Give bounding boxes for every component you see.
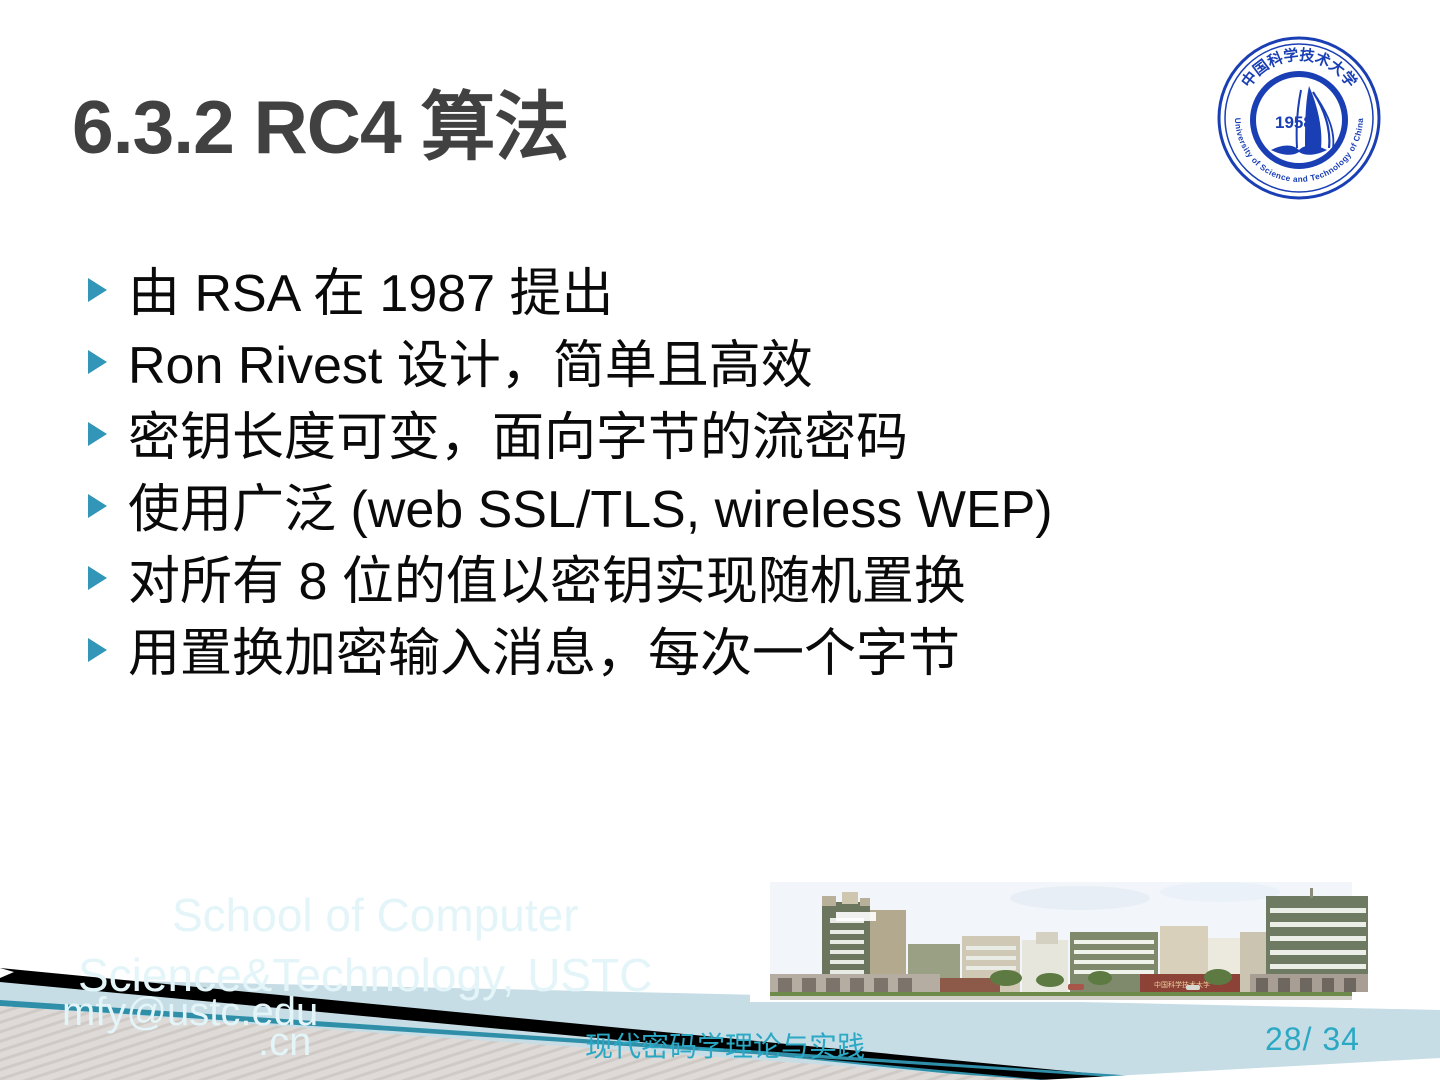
list-item-label: 对所有 8 位的值以密钥实现随机置换: [128, 556, 966, 608]
bullet-triangle-icon: [88, 494, 128, 518]
list-item-label: Ron Rivest 设计，简单且高效: [128, 340, 813, 392]
svg-text:中国科学技术大学: 中国科学技术大学: [1154, 980, 1210, 989]
list-item-label: 用置换加密输入消息，每次一个字节: [128, 628, 960, 680]
slide-canvas: 6.3.2 RC4 算法 1958 中国科学技术大学: [0, 0, 1440, 1080]
page-number: 28/ 34: [1265, 1021, 1360, 1058]
list-item: 密钥长度可变，面向字节的流密码: [88, 412, 1268, 484]
list-item: 对所有 8 位的值以密钥实现随机置换: [88, 556, 1268, 628]
logo-year: 1958: [1275, 113, 1313, 132]
bullet-triangle-icon: [88, 422, 128, 446]
page-title: 6.3.2 RC4 算法: [72, 88, 569, 167]
bullet-list: 由 RSA 在 1987 提出 Ron Rivest 设计，简单且高效 密钥长度…: [88, 268, 1268, 700]
list-item: Ron Rivest 设计，简单且高效: [88, 340, 1268, 412]
ustc-logo: 1958 中国科学技术大学 University of Science and …: [1213, 32, 1385, 204]
bullet-triangle-icon: [88, 638, 128, 662]
list-item: 使用广泛 (web SSL/TLS, wireless WEP): [88, 484, 1268, 556]
footer-course-title: 现代密码学理论与实践: [585, 1025, 865, 1065]
list-item-label: 使用广泛 (web SSL/TLS, wireless WEP): [128, 484, 1053, 536]
bullet-triangle-icon: [88, 350, 128, 374]
bullet-triangle-icon: [88, 278, 128, 302]
list-item: 由 RSA 在 1987 提出: [88, 268, 1268, 340]
list-item-label: 由 RSA 在 1987 提出: [128, 268, 614, 320]
list-item-label: 密钥长度可变，面向字节的流密码: [128, 412, 908, 464]
bullet-triangle-icon: [88, 566, 128, 590]
campus-photo: 中国科学技术大学: [750, 874, 1372, 1002]
list-item: 用置换加密输入消息，每次一个字节: [88, 628, 1268, 700]
